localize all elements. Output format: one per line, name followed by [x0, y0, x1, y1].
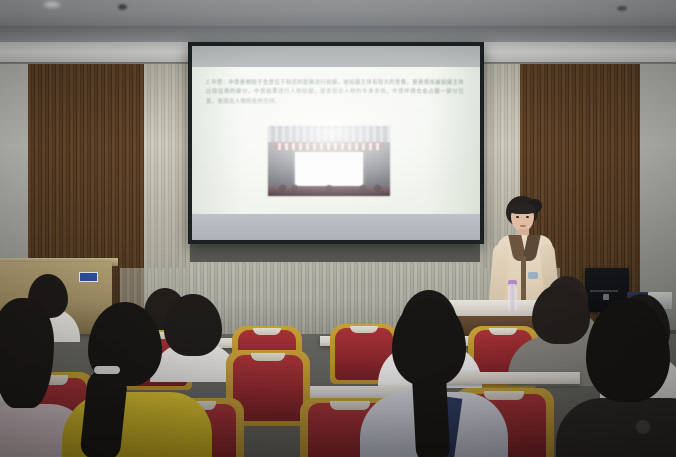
projected-slide: 2.中景：中景是相较于全景位于较近的距离进行拍摄，被拍摄主体有较大的景像，是表现…: [192, 67, 480, 214]
photo-ceiling-lights: [268, 126, 390, 142]
student-front-3: [370, 316, 490, 457]
chair-top-notch: [330, 401, 370, 410]
chair-top-notch: [489, 328, 517, 335]
slide-body-text: 2.中景：中景是相较于全景位于较近的距离进行拍摄，被拍摄主体有较大的景像，是表现…: [206, 79, 464, 107]
chair-top-notch: [484, 391, 524, 400]
water-bottle: [508, 284, 517, 311]
presenter-fringe: [509, 203, 536, 214]
chair-top-notch: [253, 328, 281, 335]
clothing-button-icon: [636, 420, 650, 434]
presenter-badge: [528, 272, 538, 279]
wall-right-plain: [640, 64, 676, 330]
lectern-label-icon: [79, 272, 98, 282]
screen-top-band: [192, 46, 480, 67]
lecture-room-scene: 2.中景：中景是相较于全景位于较近的距离进行拍摄，被拍摄主体有较大的景像，是表现…: [0, 0, 676, 457]
ceiling-vent-icon: [617, 6, 627, 11]
presenter-mouth: [520, 225, 526, 227]
presenter-eye-left: [516, 216, 519, 218]
student-front-4: [572, 320, 676, 457]
photo-audience: [268, 178, 390, 192]
hair-tie-icon: [94, 366, 120, 374]
ceiling: [0, 0, 676, 26]
ceiling-light-icon: [44, 2, 60, 7]
slide-embedded-photo: [268, 126, 390, 196]
chair-top-notch: [251, 353, 285, 361]
ceiling-fixture-icon: [118, 4, 127, 10]
ceiling-band: [0, 26, 676, 42]
student-ponytail: [412, 365, 451, 457]
student-shirt: [556, 398, 676, 457]
photo-banner-text: [278, 143, 380, 150]
projection-screen[interactable]: 2.中景：中景是相较于全景位于较近的距离进行拍摄，被拍摄主体有较大的景像，是表现…: [192, 46, 480, 240]
screen-bottom-band: [192, 214, 480, 240]
presenter-eye-right: [526, 216, 529, 218]
student-hair: [0, 298, 54, 408]
student-front-2: [62, 326, 192, 457]
